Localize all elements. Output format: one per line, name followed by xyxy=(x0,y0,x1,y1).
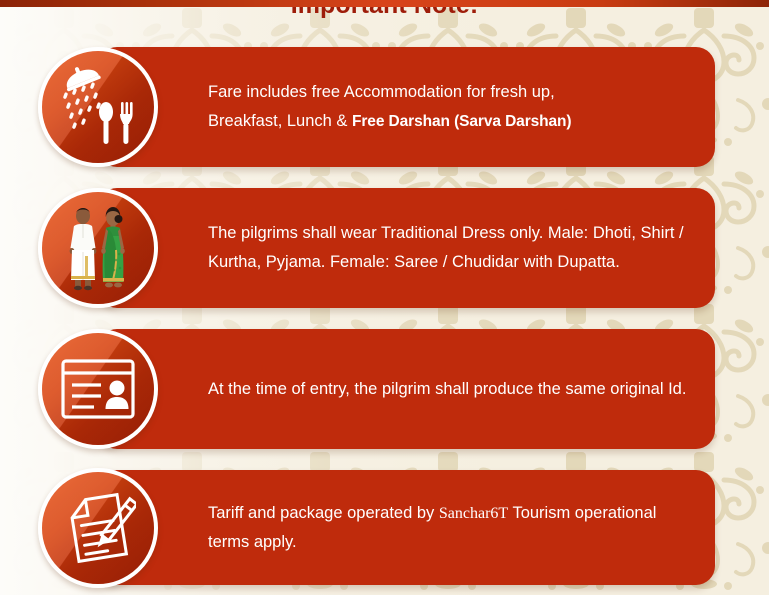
note-card: The pilgrims shall wear Traditional Dres… xyxy=(98,188,715,308)
note-card: Fare includes free Accommodation for fre… xyxy=(98,47,715,167)
note-text-emphasis: Sanchar6T xyxy=(439,505,508,522)
note-card-text: The pilgrims shall wear Traditional Dres… xyxy=(208,219,697,277)
id-card-icon xyxy=(38,329,158,449)
top-accent-bar xyxy=(0,0,769,7)
note-card-text: Fare includes free Accommodation for fre… xyxy=(208,78,571,136)
note-text-emphasis: Free Darshan (Sarva Darshan) xyxy=(352,113,571,130)
shower-cutlery-icon xyxy=(38,47,158,167)
note-card: At the time of entry, the pilgrim shall … xyxy=(98,329,715,449)
document-pencil-icon xyxy=(38,468,158,588)
note-text-prefix: Tariff and package operated by xyxy=(208,504,439,522)
note-card: Tariff and package operated by Sanchar6T… xyxy=(98,470,715,585)
traditional-dress-couple-icon xyxy=(38,188,158,308)
note-text-line1: Fare includes free Accommodation for fre… xyxy=(208,83,555,101)
note-card-list: Fare includes free Accommodation for fre… xyxy=(0,47,769,595)
note-card-text: Tariff and package operated by Sanchar6T… xyxy=(208,499,697,557)
note-card-text: At the time of entry, the pilgrim shall … xyxy=(208,375,686,404)
note-text-line2-prefix: Breakfast, Lunch & xyxy=(208,112,352,130)
